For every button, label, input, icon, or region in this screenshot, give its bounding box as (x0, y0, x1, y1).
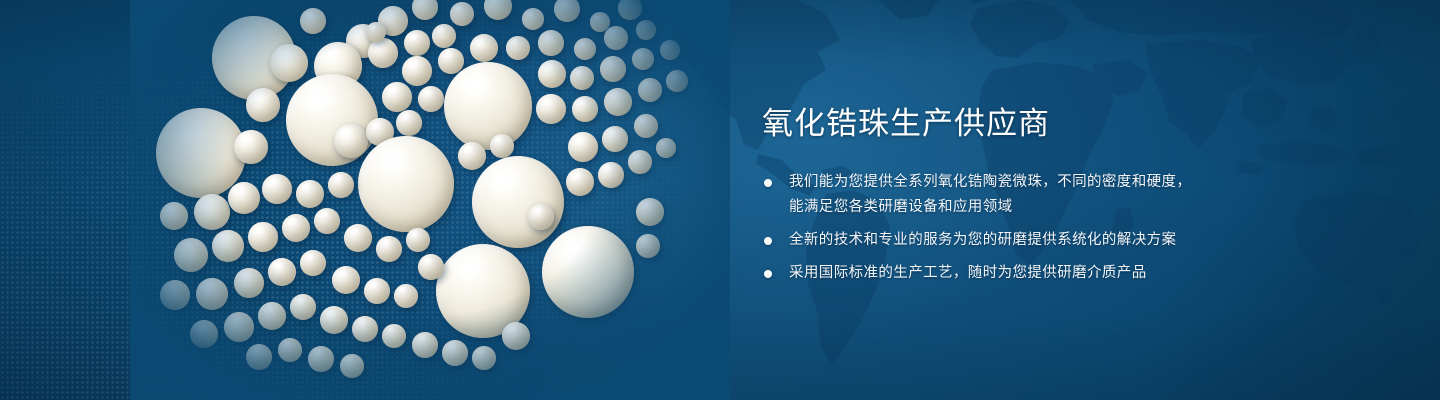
feature-bullet-item-1: 我们能为您提供全系列氧化锆陶瓷微珠，不同的密度和硬度， 能满足您各类研磨设备和应… (762, 170, 1322, 220)
page-title: 氧化锆珠生产供应商 (762, 104, 1322, 144)
bullet-line: 能满足您各类研磨设备和应用领域 (789, 195, 1322, 220)
hero-banner: 氧化锆珠生产供应商 我们能为您提供全系列氧化锆陶瓷微珠，不同的密度和硬度， 能满… (0, 0, 1440, 400)
feature-bullet-item-2: 全新的技术和专业的服务为您的研磨提供系统化的解决方案 (762, 228, 1322, 253)
bullet-dot-icon (764, 237, 772, 245)
bullet-line: 采用国际标准的生产工艺，随时为您提供研磨介质产品 (789, 261, 1322, 286)
banner-copy: 氧化锆珠生产供应商 我们能为您提供全系列氧化锆陶瓷微珠，不同的密度和硬度， 能满… (762, 104, 1322, 286)
bullet-line: 全新的技术和专业的服务为您的研磨提供系统化的解决方案 (789, 228, 1322, 253)
feature-bullet-list: 我们能为您提供全系列氧化锆陶瓷微珠，不同的密度和硬度， 能满足您各类研磨设备和应… (762, 170, 1322, 286)
bullet-dot-icon (764, 270, 772, 278)
bullet-dot-icon (764, 179, 772, 187)
feature-bullet-item-3: 采用国际标准的生产工艺，随时为您提供研磨介质产品 (762, 261, 1322, 286)
bullet-line: 我们能为您提供全系列氧化锆陶瓷微珠，不同的密度和硬度， (789, 170, 1322, 195)
